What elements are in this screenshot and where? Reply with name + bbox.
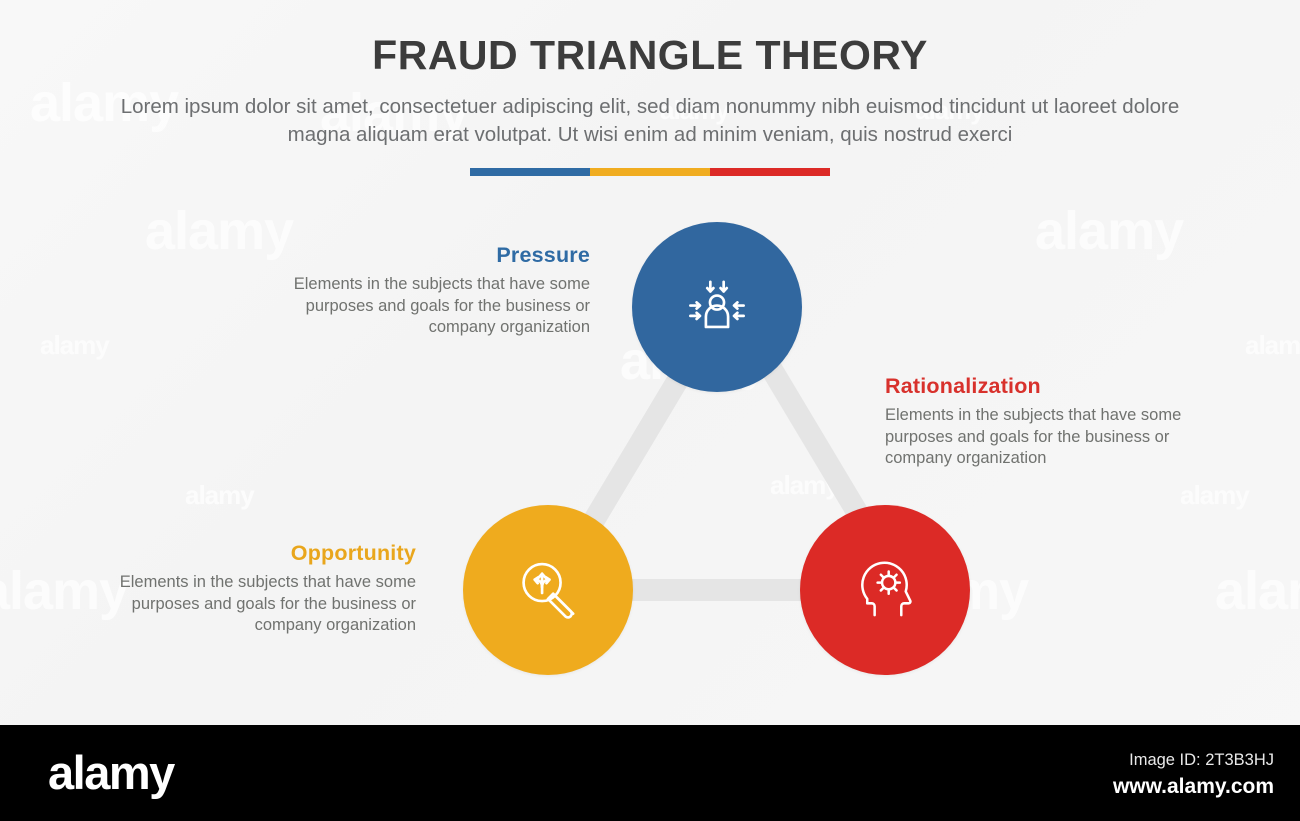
body-rationalization: Elements in the subjects that have some …	[885, 405, 1197, 470]
stock-photo-footer: alamy Image ID: 2T3B3HJ www.alamy.com	[0, 725, 1300, 821]
body-opportunity: Elements in the subjects that have some …	[110, 572, 416, 637]
body-pressure: Elements in the subjects that have some …	[280, 274, 590, 339]
person-pressure-arrows-icon	[680, 270, 754, 344]
text-block-opportunity: Opportunity Elements in the subjects tha…	[110, 541, 416, 637]
node-circle-rationalization[interactable]	[800, 505, 970, 675]
footer-image-id: Image ID: 2T3B3HJ	[1129, 751, 1274, 770]
text-block-pressure: Pressure Elements in the subjects that h…	[280, 243, 590, 339]
head-profile-gear-icon	[848, 553, 922, 627]
infographic-canvas: alamy alamy alamy alamy alamy alamy alam…	[0, 0, 1300, 821]
alamy-logo: alamy	[48, 749, 174, 797]
heading-rationalization: Rationalization	[885, 374, 1197, 399]
heading-pressure: Pressure	[280, 243, 590, 268]
node-circle-pressure[interactable]	[632, 222, 802, 392]
heading-opportunity: Opportunity	[110, 541, 416, 566]
magnifier-branching-arrows-icon	[511, 553, 585, 627]
footer-url: www.alamy.com	[1113, 775, 1274, 799]
node-circle-opportunity[interactable]	[463, 505, 633, 675]
text-block-rationalization: Rationalization Elements in the subjects…	[885, 374, 1197, 470]
